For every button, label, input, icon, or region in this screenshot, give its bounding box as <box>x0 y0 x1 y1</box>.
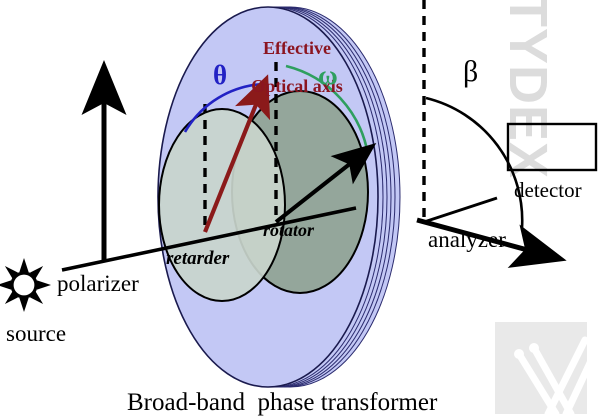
beta-symbol: β <box>463 57 478 87</box>
eff-line-1: Effective <box>263 38 331 58</box>
analyzer-axis <box>424 198 497 222</box>
polarizer-label: polarizer <box>57 272 139 295</box>
retarder-element <box>159 109 285 301</box>
theta-symbol: θ <box>213 62 227 89</box>
figure-canvas: TYDEX <box>0 0 600 418</box>
detector-label: detector <box>514 180 582 201</box>
figure-caption: Broad-band phase transformer <box>127 390 437 415</box>
omega-symbol: ω <box>318 62 338 89</box>
analyzer-label: analyzer <box>428 228 506 251</box>
retarder-label: retarder <box>166 249 229 268</box>
source-label: source <box>6 322 66 345</box>
sun-icon <box>0 258 51 312</box>
detector-box <box>508 124 596 170</box>
rotator-label: rotator <box>263 221 314 239</box>
